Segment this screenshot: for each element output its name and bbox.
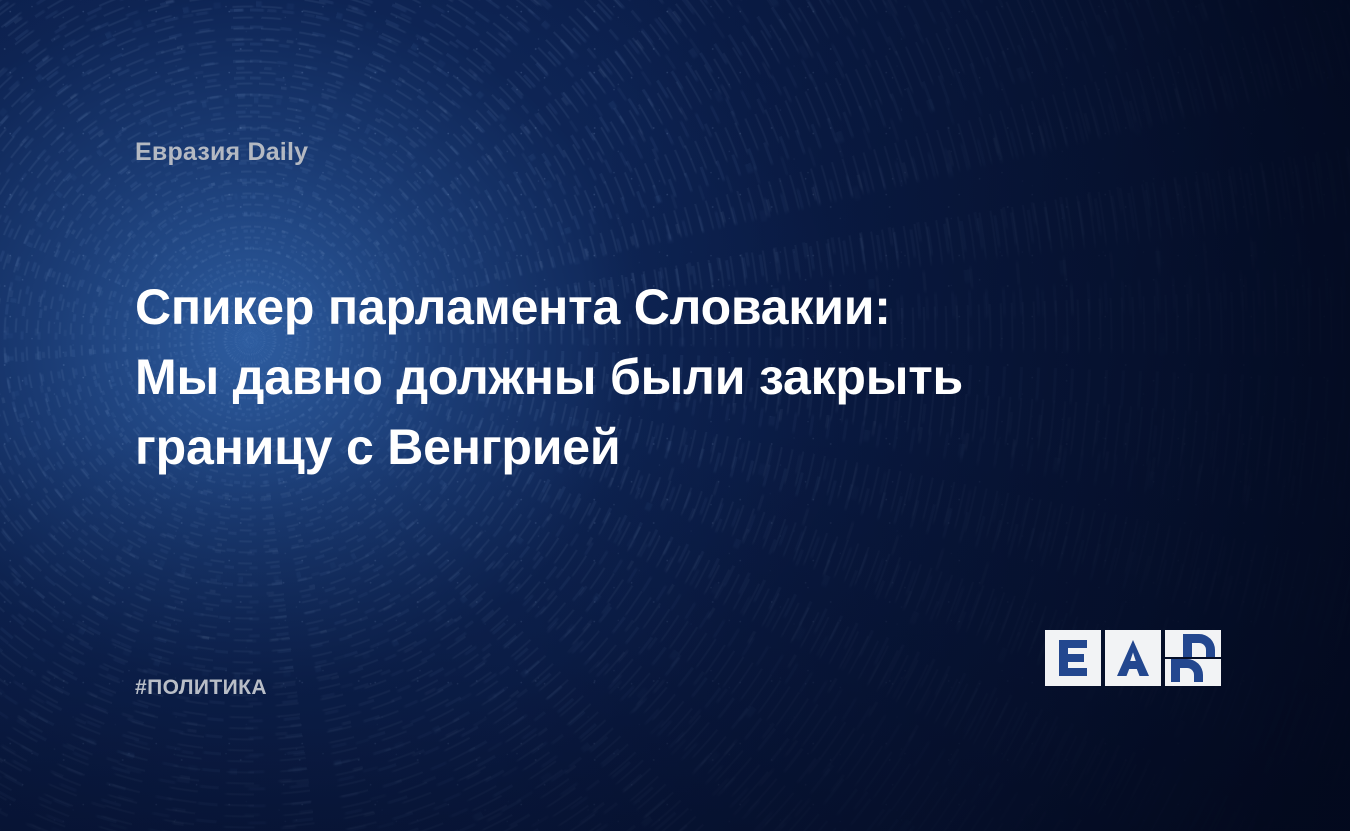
page-title: Спикер парламента Словакии: Мы давно дол… xyxy=(135,272,1095,482)
headline-line-2: Мы давно должны были закрыть xyxy=(135,342,1095,412)
brand-name: Евразия Daily xyxy=(135,138,308,167)
category-hashtag[interactable]: #ПОЛИТИКА xyxy=(135,676,267,700)
logo-tile-a-icon xyxy=(1105,630,1161,686)
ead-logo[interactable] xyxy=(1045,630,1221,686)
news-card: Евразия Daily Спикер парламента Словакии… xyxy=(0,0,1350,831)
logo-tile-d-split-icon xyxy=(1165,630,1221,686)
logo-tile-e-icon xyxy=(1045,630,1101,686)
headline-line-3: границу с Венгрией xyxy=(135,412,1095,482)
headline-line-1: Спикер парламента Словакии: xyxy=(135,272,1095,342)
